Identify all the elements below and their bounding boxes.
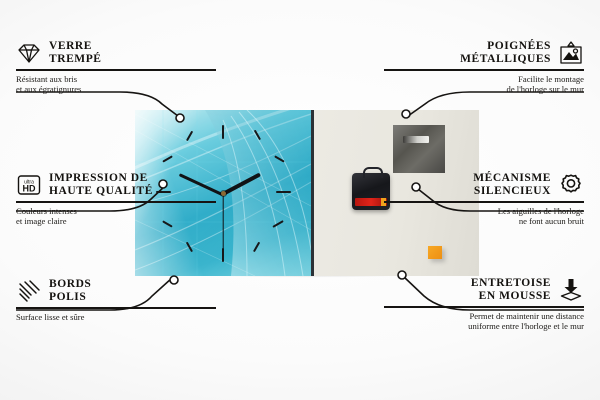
- metallic-hanger-plate: [393, 125, 445, 173]
- feature-divider: [384, 306, 584, 308]
- picture-frame-hanger-icon: [558, 40, 584, 66]
- feature-poignees-metalliques: POIGNÉES MÉTALLIQUES Facilite le montage…: [384, 40, 584, 94]
- svg-text:HD: HD: [23, 184, 36, 194]
- feature-description: Couleurs intenses et image claire: [16, 206, 216, 227]
- feature-header: VERRE TREMPÉ: [16, 40, 216, 66]
- gear-icon: [558, 172, 584, 198]
- hour-tick: [222, 248, 224, 262]
- feature-divider: [384, 69, 584, 71]
- feature-divider: [16, 201, 216, 203]
- polished-edges-icon: [16, 278, 42, 304]
- ultra-hd-icon: ultra HD: [16, 172, 42, 198]
- feature-divider: [16, 307, 216, 309]
- feature-mecanisme-silencieux: MÉCANISME SILENCIEUX Les aiguilles de l'…: [384, 172, 584, 226]
- hanger-slot: [403, 136, 429, 143]
- feature-header: POIGNÉES MÉTALLIQUES: [384, 40, 584, 66]
- feature-header: MÉCANISME SILENCIEUX: [384, 172, 584, 198]
- feature-impression-hd: ultra HD IMPRESSION DE HAUTE QUALITÉ Cou…: [16, 172, 216, 226]
- feature-divider: [384, 201, 584, 203]
- feature-description: Les aiguilles de l'horloge ne font aucun…: [384, 206, 584, 227]
- feature-description: Surface lisse et sûre: [16, 312, 216, 322]
- foam-spacer: [428, 246, 442, 259]
- feature-verre-trempe: VERRE TREMPÉ Résistant aux bris et aux é…: [16, 40, 216, 94]
- feature-title: ENTRETOISE EN MOUSSE: [471, 277, 551, 302]
- feature-header: ultra HD IMPRESSION DE HAUTE QUALITÉ: [16, 172, 216, 198]
- feature-title: VERRE TREMPÉ: [49, 40, 102, 65]
- feature-header: ENTRETOISE EN MOUSSE: [384, 277, 584, 303]
- feature-entretoise-en-mousse: ENTRETOISE EN MOUSSE Permet de maintenir…: [384, 277, 584, 331]
- mechanism-hanging-loop: [363, 167, 383, 178]
- second-hand: [222, 194, 223, 250]
- feature-divider: [16, 69, 216, 71]
- feature-description: Permet de maintenir une distance uniform…: [384, 311, 584, 332]
- diamond-icon: [16, 40, 42, 66]
- hour-tick: [222, 125, 224, 139]
- clock-hands-hub: [221, 191, 226, 196]
- feature-title: IMPRESSION DE HAUTE QUALITÉ: [49, 172, 153, 197]
- feature-title: POIGNÉES MÉTALLIQUES: [460, 40, 551, 65]
- infographic-canvas: VERRE TREMPÉ Résistant aux bris et aux é…: [0, 0, 600, 400]
- feature-title: BORDS POLIS: [49, 278, 91, 303]
- feature-description: Résistant aux bris et aux égratignures: [16, 74, 216, 95]
- feature-title: MÉCANISME SILENCIEUX: [473, 172, 551, 197]
- foam-spacer-arrow-icon: [558, 277, 584, 303]
- feature-description: Facilite le montage de l'horloge sur le …: [384, 74, 584, 95]
- feature-header: BORDS POLIS: [16, 278, 216, 304]
- feature-bords-polis: BORDS POLIS Surface lisse et sûre: [16, 278, 216, 322]
